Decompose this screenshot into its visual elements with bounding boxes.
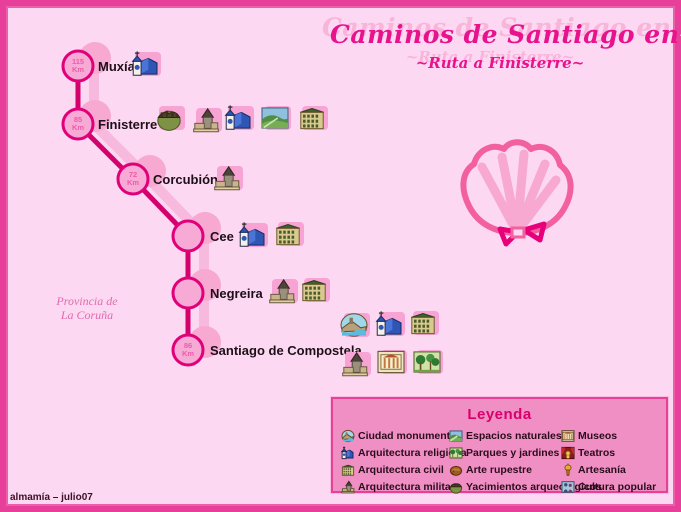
parques-y-jardines-icon <box>449 446 463 461</box>
route-stop-label[interactable]: Negreira <box>210 286 263 301</box>
legend-title: Leyenda <box>333 406 666 423</box>
ciudad-monumental-icon <box>341 429 355 444</box>
legend-item[interactable]: Arquitectura civil <box>341 463 451 479</box>
teatros-icon <box>561 446 575 461</box>
ciudad-monumental-icon[interactable] <box>340 311 370 341</box>
arquitectura-religiosa-icon <box>341 446 355 461</box>
arquitectura-militar-icon[interactable] <box>192 106 222 136</box>
arquitectura-civil-icon <box>341 463 355 478</box>
legend-item[interactable]: Espacios naturales <box>449 429 569 445</box>
legend-item-label: Arquitectura militar <box>358 481 455 493</box>
legend-item-label: Teatros <box>578 447 615 459</box>
arquitectura-civil-icon[interactable] <box>300 276 330 306</box>
legend-item[interactable]: Parques y jardines <box>449 446 569 462</box>
legend-item-label: Arte rupestre <box>466 464 532 476</box>
legend-item[interactable]: Yacimientos arqueológicos <box>449 480 569 496</box>
arquitectura-militar-icon <box>341 480 355 495</box>
legend-column-2: Espacios naturales Parques y jardines Ar… <box>449 429 569 497</box>
route-stop-label[interactable]: Muxía <box>98 59 135 74</box>
arquitectura-religiosa-icon[interactable] <box>224 104 254 134</box>
museos-icon[interactable] <box>377 348 407 378</box>
espacios-naturales-icon[interactable] <box>261 104 291 134</box>
route-stop-label[interactable]: Corcubión <box>153 172 218 187</box>
legend-column-3: Museos Teatros Artesanía Cultura popular <box>561 429 666 497</box>
legend-item-label: Parques y jardines <box>466 447 559 459</box>
legend-item-label: Ciudad monumental <box>358 430 459 442</box>
arquitectura-militar-icon[interactable] <box>268 277 298 307</box>
cultura-popular-icon <box>561 480 575 495</box>
legend-item[interactable]: Teatros <box>561 446 666 462</box>
arquitectura-militar-icon[interactable] <box>341 350 371 380</box>
route-stop-label[interactable]: Finisterre <box>98 117 157 132</box>
legend-item-label: Espacios naturales <box>466 430 562 442</box>
yacimientos-arqueologicos-icon <box>449 480 463 495</box>
route-stop-label[interactable]: Santiago de Compostela <box>210 343 362 358</box>
legend-item[interactable]: Cultura popular <box>561 480 666 496</box>
map-poster: Caminos de Santiago en España ~Ruta a Fi… <box>0 0 681 512</box>
artesania-icon <box>561 463 575 478</box>
arquitectura-religiosa-icon[interactable] <box>131 50 161 80</box>
legend-item-label: Artesanía <box>578 464 626 476</box>
legend-item[interactable]: Arquitectura religiosa <box>341 446 451 462</box>
legend-item[interactable]: Museos <box>561 429 666 445</box>
arquitectura-militar-icon[interactable] <box>213 164 243 194</box>
legend-item[interactable]: Artesanía <box>561 463 666 479</box>
legend-item[interactable]: Arte rupestre <box>449 463 569 479</box>
legend-item-label: Museos <box>578 430 617 442</box>
legend-item[interactable]: Ciudad monumental <box>341 429 451 445</box>
arquitectura-religiosa-icon[interactable] <box>238 221 268 251</box>
museos-icon <box>561 429 575 444</box>
arte-rupestre-icon <box>449 463 463 478</box>
legend-item-label: Cultura popular <box>578 481 656 493</box>
yacimientos-arqueologicos-icon[interactable] <box>155 104 185 134</box>
parques-y-jardines-icon[interactable] <box>413 348 443 378</box>
legend-item[interactable]: Arquitectura militar <box>341 480 451 496</box>
legend-panel: Leyenda Ciudad monumental Arquitectura r… <box>331 397 668 493</box>
route-stop-label[interactable]: Cee <box>210 229 234 244</box>
arquitectura-civil-icon[interactable] <box>274 220 304 250</box>
espacios-naturales-icon <box>449 429 463 444</box>
legend-item-label: Arquitectura civil <box>358 464 444 476</box>
arquitectura-civil-icon[interactable] <box>409 309 439 339</box>
arquitectura-civil-icon[interactable] <box>298 104 328 134</box>
author-signature: almamía – julio07 <box>10 492 93 503</box>
arquitectura-religiosa-icon[interactable] <box>375 310 405 340</box>
legend-column-1: Ciudad monumental Arquitectura religiosa… <box>341 429 451 497</box>
